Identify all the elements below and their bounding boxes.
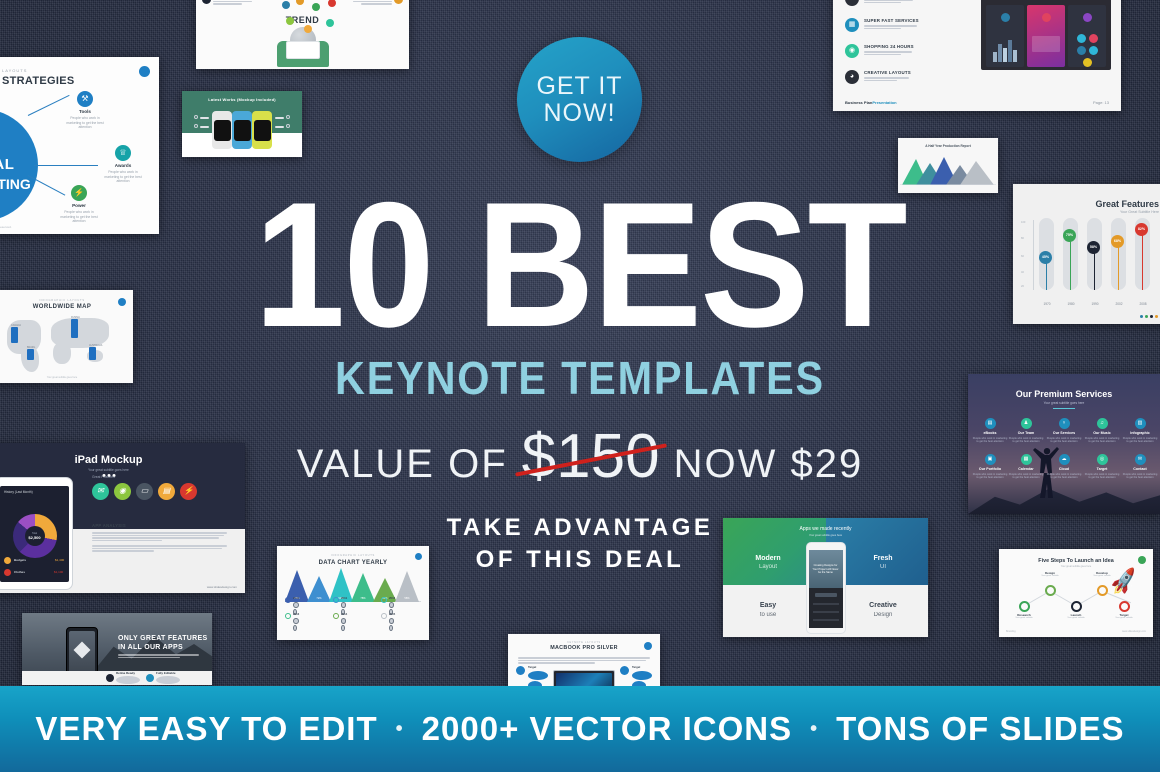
analysis-block: APP ANALYSIS xyxy=(92,523,227,553)
trend-feature: Web Design xyxy=(202,0,257,6)
service-item: ♟Our TeamPeople who work in marketing to… xyxy=(1008,418,1044,444)
feature-headline: ONLY GREAT FEATURES IN ALL OUR APPS xyxy=(118,635,207,653)
feature-icon-row: ✉ ◉ ▭ ▤ ⚡ xyxy=(92,483,197,500)
card-icon: ▭ xyxy=(136,483,153,500)
features-label: Great Features xyxy=(92,475,115,480)
service-item: ♫Our MusicPeople who work in marketing t… xyxy=(1084,418,1120,444)
diamond-icon xyxy=(74,642,91,659)
service-item: ▥InfographicPeople who work in marketing… xyxy=(1122,418,1158,444)
bulb-icon: ◕ xyxy=(845,70,859,84)
slide-thumbnail-ipad-mockup[interactable]: iPad Mockup Your great subtitle goes her… xyxy=(0,443,245,593)
list-item: ☁ CLOUD TECHNOLOGY xyxy=(845,0,973,6)
data-knob: 68% xyxy=(1111,235,1124,248)
slide-thumbnail-trend[interactable]: TREND Social Ranking Music Web Design Ma… xyxy=(196,0,409,69)
camera-icon: ◉ xyxy=(114,483,131,500)
node-body: People who work in marketing to get the … xyxy=(58,210,100,224)
slide-title: MACBOOK PRO SILVER xyxy=(550,645,618,652)
banner-separator: • xyxy=(810,718,818,741)
pagination-dots[interactable] xyxy=(1140,315,1160,318)
continent-shape xyxy=(53,342,71,364)
slide-title: A Half Year Production Report xyxy=(925,144,971,148)
slide-title: Great Features xyxy=(1095,198,1159,210)
ipad-screen: History (Last Month) Total $2,500 Budget… xyxy=(0,486,69,582)
list-item-label: SUPER FAST SERVICES xyxy=(864,18,919,24)
tools-icon: ⚒ xyxy=(77,91,93,107)
slide-subtitle: Your great subtitle goes here xyxy=(1044,401,1085,405)
slide-kicker: KEYNOTE LAYOUTS xyxy=(567,641,601,644)
slide-title: STRATEGIES xyxy=(2,74,74,89)
data-knob: 45% xyxy=(1039,251,1052,264)
watch xyxy=(252,111,272,149)
quadrant-label: ModernLayout xyxy=(735,554,801,572)
badge-line1: GET IT xyxy=(536,73,622,100)
screen-title: History (Last Month) xyxy=(4,490,33,494)
watch xyxy=(232,111,252,149)
contact-icon: ✉ xyxy=(1135,454,1146,465)
services-icon: ♆ xyxy=(1059,418,1070,429)
legend-row: Clothes $1,100 xyxy=(4,569,63,576)
slide-subtitle: Your great subtitle goes here xyxy=(88,468,129,472)
slide-subtitle: Your great subtitle goes here xyxy=(1061,565,1091,568)
portfolio-icon: ▣ xyxy=(985,454,996,465)
url-label: www.slidesdesign.com xyxy=(207,585,237,589)
phone-screen-bottom xyxy=(809,588,843,628)
x-tick: 2008 xyxy=(1133,302,1153,306)
service-item: ◎TargetPeople who work in marketing to g… xyxy=(1084,454,1120,480)
watch-header: Latest Works (Mockup Included) xyxy=(182,91,302,133)
slide-title: WORLDWIDE MAP xyxy=(33,303,92,311)
service-item: ☁CloudPeople who work in marketing to ge… xyxy=(1046,454,1082,480)
slide-thumbnail-watches[interactable]: Latest Works (Mockup Included) xyxy=(182,91,302,157)
bolt-icon: ⚡ xyxy=(71,185,87,201)
y-tick: 60 xyxy=(1021,255,1024,259)
donut-center-value: $2,500 xyxy=(28,535,40,540)
node-label: Tools xyxy=(64,109,106,115)
step-caption: TargetYour great subtitle xyxy=(1107,613,1141,620)
cloud-icon: ☁ xyxy=(1059,454,1070,465)
slide-kicker: INFOGRAPHIC LAYOUTS xyxy=(331,554,375,558)
ebook-icon: ▤ xyxy=(985,418,996,429)
card xyxy=(1068,5,1106,67)
y-tick: 40 xyxy=(1021,271,1024,275)
feature-body xyxy=(118,653,202,659)
area-chart xyxy=(898,149,998,185)
card xyxy=(986,5,1024,67)
phone-screen-top: Creating Designs for Your Project will N… xyxy=(809,550,843,588)
analysis-title: APP ANALYSIS xyxy=(92,523,126,528)
step-node xyxy=(1071,601,1082,612)
web-design-icon xyxy=(394,0,403,4)
browser-mockup xyxy=(981,0,1111,70)
node-body: People who work in marketing to get the … xyxy=(102,170,144,184)
map-marker: RUSSIA xyxy=(71,316,78,338)
service-item: ♆Our ServicesPeople who work in marketin… xyxy=(1046,418,1082,444)
slide-kicker: LAYOUTS xyxy=(2,68,27,73)
mail-icon: ✉ xyxy=(92,483,109,500)
banner-item-2: 2000+ VECTOR ICONS xyxy=(422,710,792,748)
step-node xyxy=(1045,585,1056,596)
quadrant-label: CreativeDesign xyxy=(850,601,916,619)
slide-thumbnail-apps[interactable]: Apps we made recently Your great subtitl… xyxy=(723,518,928,637)
slide-thumbnail-business-plan[interactable]: ☁ CLOUD TECHNOLOGY ▦ SUPER FAST SERVICES… xyxy=(833,0,1121,111)
page-number: Page: 13 xyxy=(1093,100,1109,105)
list-item: ▦ SUPER FAST SERVICES xyxy=(845,18,973,32)
service-item: ▣Our PortfolioPeople who work in marketi… xyxy=(972,454,1008,480)
card: Retina Ready xyxy=(106,671,140,685)
quadrant-label: FreshUI xyxy=(850,554,916,572)
feature-banner: VERY EASY TO EDIT • 2000+ VECTOR ICONS •… xyxy=(0,686,1160,772)
x-tick: 1990 xyxy=(1085,302,1105,306)
slide-subtitle: Your Great Subtitle Here xyxy=(1120,210,1159,215)
dashboard-icon: ▦ xyxy=(845,18,859,32)
x-tick: 1970 xyxy=(1037,302,1057,306)
slide-badge xyxy=(139,66,150,77)
calendar-icon: ▦ xyxy=(1021,454,1032,465)
list-item: ◉ SHOPPING 24 HOURS xyxy=(845,44,973,58)
tablet-icon xyxy=(286,41,320,59)
step-node xyxy=(1019,601,1030,612)
target-icon xyxy=(620,666,629,675)
target-icon xyxy=(516,666,525,675)
phone-headline: Creating Designs for Your Project will N… xyxy=(812,564,840,575)
folder-icon: ▤ xyxy=(158,483,175,500)
slide-thumbnail-premium-services[interactable]: Our Premium Services Your great subtitle… xyxy=(968,374,1160,514)
center-line2: MARKETING xyxy=(0,175,31,194)
slide-thumbnail-great-features[interactable]: Great Features Your Great Subtitle Here … xyxy=(1013,184,1160,324)
business-plan-footer: Business PlanPresentation xyxy=(845,100,897,105)
center-circle: 🚀 DIGITAL MARKETING xyxy=(0,109,38,221)
slide-thumbnail-digital-marketing[interactable]: LAYOUTS STRATEGIES 🚀 DIGITAL MARKETING ⚒… xyxy=(0,57,159,234)
slide-badge xyxy=(644,642,652,650)
slide-thumbnail-worldmap[interactable]: INFOGRAPHIC LAYOUTS WORLDWIDE MAP CANADA… xyxy=(0,290,133,383)
center-line1: DIGITAL xyxy=(0,155,14,175)
step-caption: ResearchYour great subtitle xyxy=(1007,613,1041,620)
list-item-label: CREATIVE LAYOUTS xyxy=(864,70,911,76)
slide-title: Our Premium Services xyxy=(1016,388,1113,400)
footer-left: Branding xyxy=(1006,630,1016,633)
browser-cards xyxy=(981,0,1111,70)
bolt-icon: ⚡ xyxy=(180,483,197,500)
y-tick: 20 xyxy=(1021,285,1024,289)
legend-item: 2014 xyxy=(333,613,373,632)
apps-headline: Apps we made recently xyxy=(800,526,852,533)
data-knob: 58% xyxy=(1087,241,1100,254)
worldmap-header: INFOGRAPHIC LAYOUTS WORLDWIDE MAP xyxy=(33,299,92,311)
list-item: ◕ CREATIVE LAYOUTS xyxy=(845,70,973,84)
legend-row: Budgets $1,400 xyxy=(4,557,64,564)
tag-icon: ◉ xyxy=(845,44,859,58)
y-tick: 100 xyxy=(1021,221,1025,225)
bottom-cards: Retina Ready Fully Editable xyxy=(22,671,212,685)
map-marker: CANADA xyxy=(11,324,18,343)
slide-thumbnail-data-chart[interactable]: INFOGRAPHIC LAYOUTS DATA CHART YEARLY 85… xyxy=(277,546,429,640)
step-node xyxy=(1097,585,1108,596)
banner-separator: • xyxy=(396,718,404,741)
mountain-silhouette xyxy=(968,478,1160,514)
cloud-icon: ☁ xyxy=(845,0,859,6)
badge-line2: NOW! xyxy=(543,100,615,127)
target-icon: ◎ xyxy=(1097,454,1108,465)
slide-thumbnail-only-great-features[interactable]: ONLY GREAT FEATURES IN ALL OUR APPS Reti… xyxy=(22,613,212,685)
banner-item-3: TONS OF SLIDES xyxy=(836,710,1124,748)
slide-badge xyxy=(415,553,422,560)
copyright: DESIGNS.COPY All Rights Reserved. xyxy=(0,225,12,229)
watch xyxy=(212,111,232,149)
phone-device: Creating Designs for Your Project will N… xyxy=(806,542,846,634)
slide-badge xyxy=(118,298,126,306)
rocket-icon: 🚀 xyxy=(1107,565,1139,599)
web-design-icon xyxy=(202,0,211,4)
node-label: Power xyxy=(58,203,100,209)
node-tools: ⚒ Tools People who work in marketing to … xyxy=(64,91,106,130)
team-icon: ♟ xyxy=(1021,418,1032,429)
slide-kicker: INFOGRAPHIC LAYOUTS xyxy=(33,299,92,303)
map-marker: BRAZIL xyxy=(27,346,34,360)
step-caption: DesignYour great subtitle xyxy=(1033,571,1067,578)
step-node xyxy=(1119,601,1130,612)
x-tick: 2002 xyxy=(1109,302,1129,306)
infographic-icon: ▥ xyxy=(1135,418,1146,429)
slide-title: iPad Mockup xyxy=(75,453,143,468)
node-body: People who work in marketing to get the … xyxy=(64,116,106,130)
macbook-body xyxy=(518,656,650,665)
avatar-cluster xyxy=(282,0,336,37)
card: Fully Editable xyxy=(146,671,180,685)
ipad-device: History (Last Month) Total $2,500 Budget… xyxy=(0,477,73,590)
slide-title: DATA CHART YEARLY xyxy=(319,559,388,567)
banner-item-1: VERY EASY TO EDIT xyxy=(35,710,377,748)
worldmap-footer: Your great subtitle goes here xyxy=(47,376,77,379)
slide-thumbnail-production-report[interactable]: A Half Year Production Report xyxy=(898,138,998,193)
card xyxy=(1027,5,1065,67)
step-caption: LaunchYour great subtitle xyxy=(1059,613,1093,620)
node-awards: ♕ Awards People who work in marketing to… xyxy=(102,145,144,184)
watch-headline: Latest Works (Mockup Included) xyxy=(208,97,276,102)
trend-feature: Web Design xyxy=(348,0,403,6)
slide-thumbnail-five-steps[interactable]: Five Steps To Launch an Idea Your great … xyxy=(999,549,1153,637)
footer-right: www.slidesdesign.com xyxy=(1122,630,1146,633)
quadrant-label: Easyto use xyxy=(735,601,801,619)
legend-item: 2015 xyxy=(381,613,421,632)
x-tick: 1980 xyxy=(1061,302,1081,306)
business-plan-list: ☁ CLOUD TECHNOLOGY ▦ SUPER FAST SERVICES… xyxy=(845,0,973,96)
music-icon: ♫ xyxy=(1097,418,1108,429)
service-item: ▤eBooksPeople who work in marketing to g… xyxy=(972,418,1008,444)
legend-item: 2013 xyxy=(285,613,325,632)
service-item: ▦CalendarPeople who work in marketing to… xyxy=(1008,454,1044,480)
get-it-now-badge[interactable]: GET IT NOW! xyxy=(517,37,642,162)
node-label: Awards xyxy=(102,163,144,169)
data-knob: 75% xyxy=(1063,229,1076,242)
y-tick: 80 xyxy=(1021,237,1024,241)
slide-badge xyxy=(1138,556,1146,564)
list-item-label: SHOPPING 24 HOURS xyxy=(864,44,914,50)
apps-subheadline: Your great subtitle goes here xyxy=(809,534,842,538)
node-power: ⚡ Power People who work in marketing to … xyxy=(58,185,100,224)
trophy-icon: ♕ xyxy=(115,145,131,161)
data-knob: 82% xyxy=(1135,223,1148,236)
map-marker: AUSTRALIA xyxy=(89,344,96,360)
service-item: ✉ContactPeople who work in marketing to … xyxy=(1122,454,1158,480)
